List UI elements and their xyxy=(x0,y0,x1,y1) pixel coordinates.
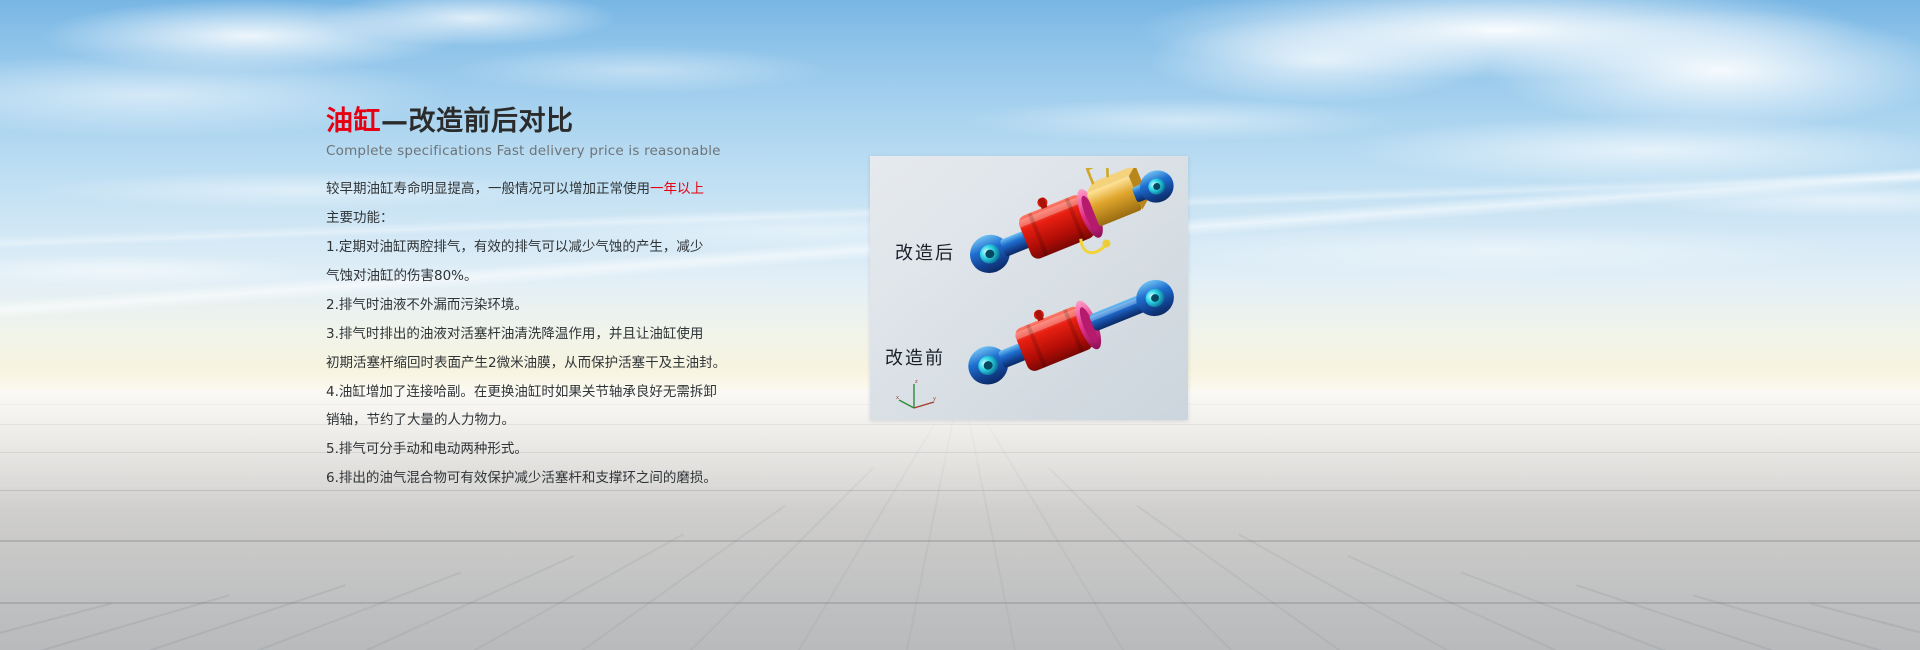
body-line-intro-1-emphasis: 一年以上 xyxy=(650,181,704,197)
cylinder-before-image xyxy=(958,276,1186,406)
body-line-item-3b: 初期活塞杆缩回时表面产生2微米油膜，从而保护活塞干及主油封。 xyxy=(326,353,796,374)
body-line-item-2: 2.排气时油液不外漏而污染环境。 xyxy=(326,295,796,316)
page-title-accent: 油缸 xyxy=(326,106,381,137)
body-line-intro-1-text: 较早期油缸寿命明显提高，一般情况可以增加正常使用 xyxy=(326,181,650,197)
pavement-ground xyxy=(0,390,1920,650)
svg-text:x: x xyxy=(896,395,899,401)
coordinate-axis-icon: z x y xyxy=(896,378,938,412)
body-line-item-1a: 1.定期对油缸两腔排气，有效的排气可以减少气蚀的产生，减少 xyxy=(326,237,796,258)
page-title: 油缸—改造前后对比 xyxy=(326,106,796,137)
body-line-intro-1: 较早期油缸寿命明显提高，一般情况可以增加正常使用一年以上 xyxy=(326,179,796,200)
body-line-item-4b: 销轴，节约了大量的人力物力。 xyxy=(326,410,796,431)
body-line-intro-2: 主要功能： xyxy=(326,208,796,229)
page-title-rest: —改造前后对比 xyxy=(381,106,574,137)
label-after-modification: 改造后 xyxy=(895,239,955,265)
body-line-item-5: 5.排气可分手动和电动两种形式。 xyxy=(326,439,796,460)
body-line-item-1b: 气蚀对油缸的伤害80%。 xyxy=(326,266,796,287)
body-line-item-6: 6.排出的油气混合物可有效保护减少活塞杆和支撑环之间的磨损。 xyxy=(326,468,796,489)
copy-block: 油缸—改造前后对比 Complete specifications Fast d… xyxy=(326,106,796,497)
subtitle-english: Complete specifications Fast delivery pr… xyxy=(326,143,796,159)
product-comparison-panel: 改造后 改造前 xyxy=(870,156,1188,420)
banner-stage: 油缸—改造前后对比 Complete specifications Fast d… xyxy=(0,0,1920,650)
body-line-item-3a: 3.排气时排出的油液对活塞杆油清洗降温作用，并且让油缸使用 xyxy=(326,324,796,345)
svg-text:z: z xyxy=(915,379,918,385)
feature-text-body: 较早期油缸寿命明显提高，一般情况可以增加正常使用一年以上 主要功能： 1.定期对… xyxy=(326,179,796,489)
body-line-item-4a: 4.油缸增加了连接哈副。在更换油缸时如果关节轴承良好无需拆卸 xyxy=(326,382,796,403)
label-before-modification: 改造前 xyxy=(885,344,945,370)
svg-text:y: y xyxy=(933,396,936,402)
cylinder-after-image xyxy=(958,168,1183,288)
